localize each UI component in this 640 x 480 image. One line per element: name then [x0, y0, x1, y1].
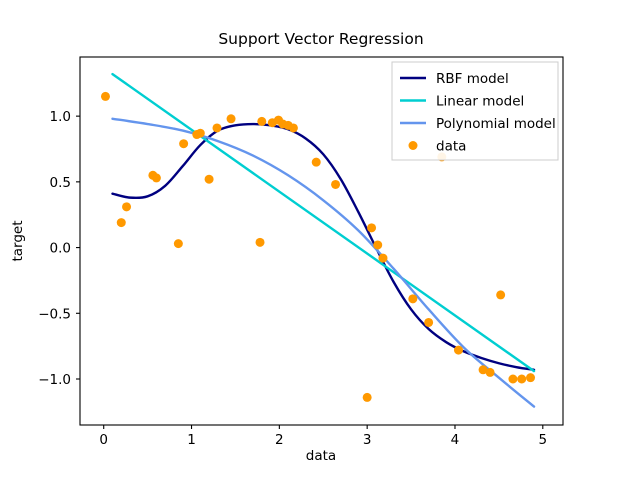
y-tick-label: 0.5 — [50, 175, 71, 191]
legend-item-label: Linear model — [436, 94, 524, 110]
x-tick-label: 2 — [275, 432, 284, 448]
chart-title: Support Vector Regression — [218, 30, 423, 48]
scatter-point — [174, 239, 183, 248]
scatter-point — [517, 375, 526, 384]
legend-item-label: data — [436, 139, 466, 155]
scatter-point — [331, 180, 340, 189]
scatter-point — [289, 123, 298, 132]
scatter-point — [454, 346, 463, 355]
x-tick-label: 1 — [187, 432, 196, 448]
x-tick-label: 3 — [363, 432, 372, 448]
legend-swatch-point — [409, 141, 418, 150]
scatter-point — [256, 238, 265, 247]
scatter-point — [363, 393, 372, 402]
scatter-point — [122, 202, 131, 211]
x-tick-label: 0 — [99, 432, 108, 448]
x-axis-label: data — [306, 448, 336, 464]
scatter-point — [486, 368, 495, 377]
y-tick-label: 1.0 — [50, 109, 71, 125]
chart-legend: RBF modelLinear modelPolynomial modeldat… — [392, 62, 558, 160]
x-tick-label: 4 — [451, 432, 460, 448]
scatter-point — [312, 158, 321, 167]
scatter-point — [227, 114, 236, 123]
scatter-point — [205, 175, 214, 184]
svr-chart: Support Vector Regression 012345−1.0−0.5… — [0, 0, 640, 480]
scatter-point — [496, 290, 505, 299]
scatter-point — [152, 173, 161, 182]
legend-item-label: RBF model — [436, 71, 509, 87]
scatter-point — [117, 218, 126, 227]
scatter-point — [408, 294, 417, 303]
scatter-point — [101, 92, 110, 101]
y-tick-label: −0.5 — [38, 306, 71, 322]
scatter-point — [526, 373, 535, 382]
scatter-point — [373, 240, 382, 249]
scatter-point — [508, 375, 517, 384]
scatter-point — [212, 123, 221, 132]
scatter-point — [257, 117, 266, 126]
scatter-point — [196, 129, 205, 138]
y-tick-label: −1.0 — [38, 372, 71, 388]
scatter-point — [378, 254, 387, 263]
scatter-point — [179, 139, 188, 148]
figure-canvas: Support Vector Regression 012345−1.0−0.5… — [0, 0, 640, 480]
y-axis-label: target — [10, 220, 26, 261]
y-tick-label: 0.0 — [50, 241, 71, 257]
x-tick-label: 5 — [539, 432, 548, 448]
legend-item-label: Polynomial model — [436, 116, 556, 132]
scatter-point — [424, 318, 433, 327]
scatter-point — [367, 223, 376, 232]
